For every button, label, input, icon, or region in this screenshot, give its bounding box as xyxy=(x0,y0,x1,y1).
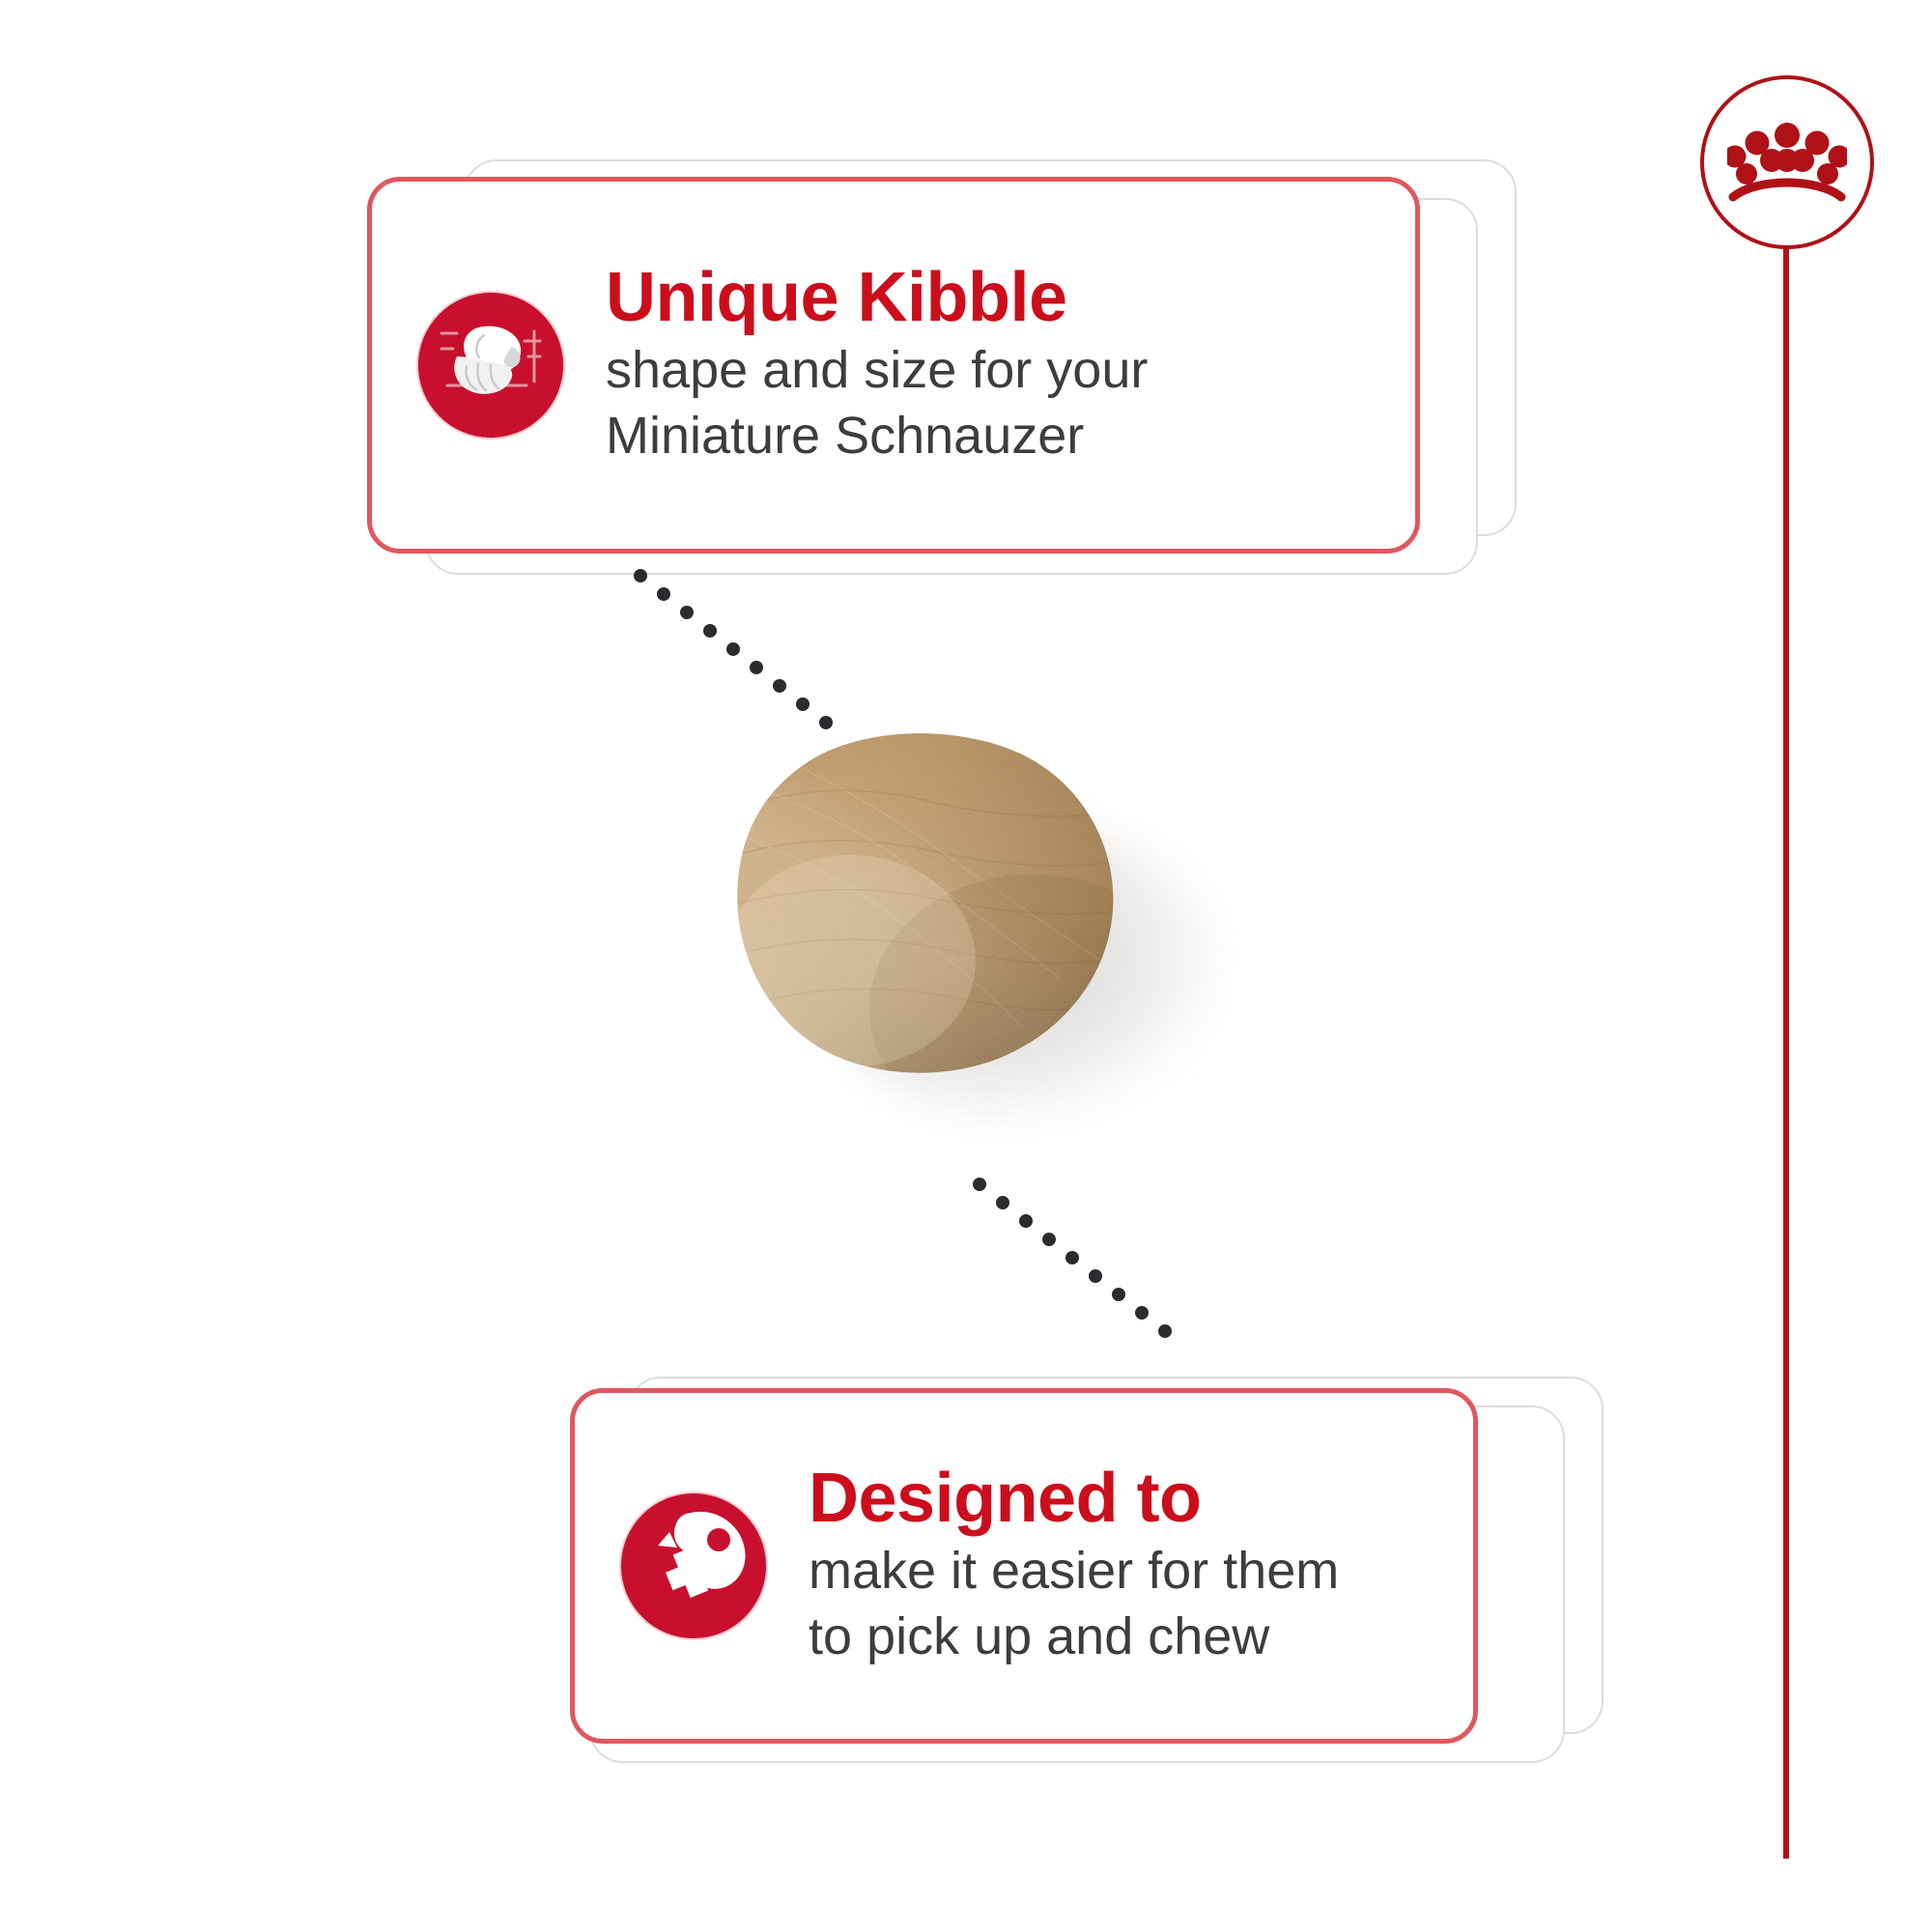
body-line: Miniature Schnauzer xyxy=(606,403,1380,469)
poster-canvas: Unique Kibble shape and size for your Mi… xyxy=(0,0,1932,1932)
royal-canin-crown-icon xyxy=(1727,122,1847,203)
dog-muzzle-chew-icon xyxy=(621,1493,766,1638)
unique-kibble-card-stack: Unique Kibble shape and size for your Mi… xyxy=(367,159,1526,565)
kibble-photo xyxy=(715,720,1217,1135)
connector-bottom-dotted-line xyxy=(972,1177,1213,1360)
kibble-shape-icon xyxy=(418,293,563,438)
body-line: shape and size for your xyxy=(606,337,1380,403)
body-line: to pick up and chew xyxy=(809,1604,1438,1669)
body-line: make it easier for them xyxy=(809,1538,1438,1604)
unique-kibble-body: shape and size for your Miniature Schnau… xyxy=(606,337,1380,469)
unique-kibble-card[interactable]: Unique Kibble shape and size for your Mi… xyxy=(367,177,1420,554)
designed-to-card[interactable]: Designed to make it easier for them to p… xyxy=(570,1388,1478,1744)
designed-to-title: Designed to xyxy=(809,1463,1438,1535)
designed-to-body: make it easier for them to pick up and c… xyxy=(809,1538,1438,1669)
designed-to-card-stack: Designed to make it easier for them to p… xyxy=(570,1377,1546,1763)
unique-kibble-title: Unique Kibble xyxy=(606,262,1380,334)
brand-logo xyxy=(1700,75,1893,269)
designed-to-card-text: Designed to make it easier for them to p… xyxy=(809,1463,1438,1670)
brand-vertical-rule xyxy=(1783,247,1789,1859)
unique-kibble-card-text: Unique Kibble shape and size for your Mi… xyxy=(606,262,1380,469)
